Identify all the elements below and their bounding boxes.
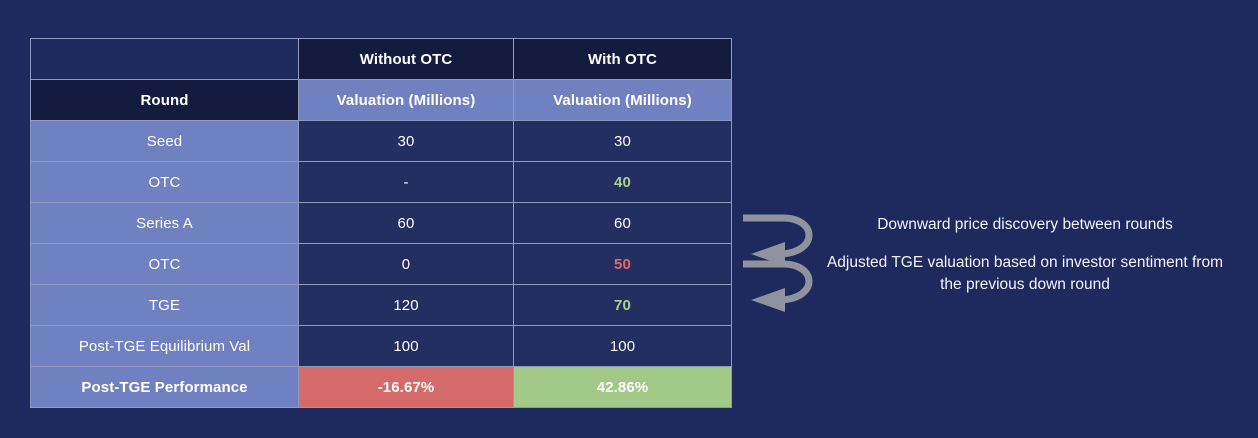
table-row: OTC 0 50 [31,244,732,285]
cell-without-otc: 100 [299,326,514,367]
performance-without-otc: -16.67% [299,367,514,408]
cell-with-otc: 30 [514,121,732,162]
cell-without-otc: 30 [299,121,514,162]
table-row: Seed 30 30 [31,121,732,162]
column-header-round: Round [31,80,299,121]
row-label: OTC [31,162,299,203]
column-header-with-otc-metric: Valuation (Millions) [514,80,732,121]
annotation-text-adjusted-tge-valuation: Adjusted TGE valuation based on investor… [825,252,1225,296]
cell-with-otc: 100 [514,326,732,367]
group-header-without-otc: Without OTC [299,39,514,80]
cell-without-otc: 0 [299,244,514,285]
row-label: Seed [31,121,299,162]
table-row: TGE 120 70 [31,285,732,326]
diagram-canvas: Without OTC With OTC Round Valuation (Mi… [0,0,1258,438]
column-header-without-otc-metric: Valuation (Millions) [299,80,514,121]
valuation-table-container: Without OTC With OTC Round Valuation (Mi… [30,38,731,404]
row-label: Post-TGE Equilibrium Val [31,326,299,367]
table-performance-row: Post-TGE Performance -16.67% 42.86% [31,367,732,408]
cell-value: 30 [614,133,631,150]
cell-value: 100 [610,338,635,355]
cell-with-otc: 40 [514,162,732,203]
table-row: Series A 60 60 [31,203,732,244]
row-label: Series A [31,203,299,244]
cell-without-otc: 60 [299,203,514,244]
group-header-with-otc: With OTC [514,39,732,80]
cell-with-otc: 50 [514,244,732,285]
cell-without-otc: 120 [299,285,514,326]
arrowhead-lower-icon [751,288,785,312]
table-column-header-row: Round Valuation (Millions) Valuation (Mi… [31,80,732,121]
cell-with-otc: 70 [514,285,732,326]
cell-without-otc: - [299,162,514,203]
row-label-performance: Post-TGE Performance [31,367,299,408]
table-corner-spacer [31,39,299,80]
table-group-header-row: Without OTC With OTC [31,39,732,80]
row-label: TGE [31,285,299,326]
cell-with-otc: 60 [514,203,732,244]
annotation-text-downward-price-discovery: Downward price discovery between rounds [825,214,1225,236]
annotations-group: Downward price discovery between rounds … [735,196,1235,326]
row-label: OTC [31,244,299,285]
cell-value: 40 [614,174,631,191]
cell-value: 70 [614,297,631,314]
performance-with-otc: 42.86% [514,367,732,408]
cell-value: 50 [614,256,631,273]
valuation-table: Without OTC With OTC Round Valuation (Mi… [30,38,732,408]
table-row: Post-TGE Equilibrium Val 100 100 [31,326,732,367]
cell-value: 60 [614,215,631,232]
table-row: OTC - 40 [31,162,732,203]
